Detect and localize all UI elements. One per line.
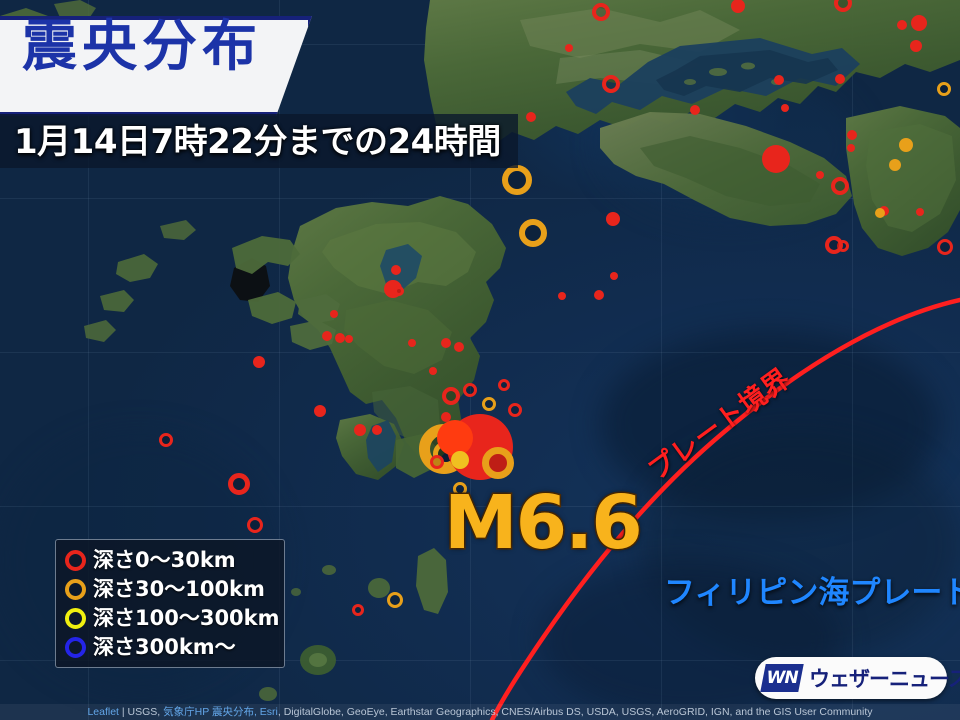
legend-item-label: 深さ0〜30km [93, 550, 236, 571]
depth-legend: 深さ0〜30km 深さ30〜100km 深さ100〜300km 深さ300km〜 [55, 539, 285, 668]
epicenter-marker[interactable] [889, 159, 901, 171]
logo-text: ウェザーニュース [809, 663, 960, 693]
epicenter-marker[interactable] [834, 0, 852, 12]
legend-item: 深さ300km〜 [65, 633, 284, 662]
epicenter-marker[interactable] [463, 383, 477, 397]
epicenter-marker[interactable] [690, 105, 700, 115]
epicenter-marker[interactable] [816, 171, 824, 179]
epicenter-marker[interactable] [335, 333, 345, 343]
epicenter-marker[interactable] [610, 272, 618, 280]
legend-depth-circle-icon [65, 579, 86, 600]
epicenter-marker[interactable] [330, 310, 338, 318]
epicenter-marker[interactable] [911, 15, 927, 31]
earthquake-map-screenshot: 震央分布 1月14日7時22分までの24時間 M6.6 プレート境界 フィリピン… [0, 0, 960, 720]
epicenter-marker[interactable] [314, 405, 326, 417]
epicenter-marker[interactable] [482, 397, 496, 411]
epicenter-marker[interactable] [372, 425, 382, 435]
epicenter-marker[interactable] [835, 74, 845, 84]
epicenter-marker[interactable] [847, 130, 857, 140]
epicenter-marker[interactable] [441, 338, 451, 348]
jma-link[interactable]: 気象庁HP 震央分布 [163, 706, 254, 718]
epicenter-marker[interactable] [602, 75, 620, 93]
legend-item-label: 深さ300km〜 [93, 637, 236, 658]
page-title: 震央分布 [22, 16, 302, 76]
epicenter-marker[interactable] [847, 144, 855, 152]
epicenter-marker[interactable] [937, 239, 953, 255]
attribution-sep: | USGS, [119, 706, 163, 718]
epicenter-marker[interactable] [910, 40, 922, 52]
epicenter-marker[interactable] [442, 387, 460, 405]
epicenter-marker[interactable] [498, 379, 510, 391]
epicenter-marker[interactable] [482, 447, 514, 479]
epicenter-marker[interactable] [253, 356, 265, 368]
epicenter-marker[interactable] [345, 335, 353, 343]
legend-item-label: 深さ30〜100km [93, 579, 265, 600]
subtitle-timerange: 1月14日7時22分までの24時間 [14, 120, 534, 164]
epicenter-marker[interactable] [875, 208, 885, 218]
epicenter-marker[interactable] [508, 403, 522, 417]
legend-item: 深さ30〜100km [65, 575, 284, 604]
epicenter-marker[interactable] [897, 20, 907, 30]
epicenter-marker[interactable] [937, 82, 951, 96]
epicenter-marker[interactable] [731, 0, 745, 13]
epicenter-marker[interactable] [408, 339, 416, 347]
epicenter-marker[interactable] [594, 290, 604, 300]
epicenter-marker[interactable] [774, 75, 784, 85]
epicenter-marker[interactable] [228, 473, 250, 495]
legend-depth-circle-icon [65, 550, 86, 571]
epicenter-marker[interactable] [762, 145, 790, 173]
epicenter-marker[interactable] [606, 212, 620, 226]
epicenter-marker[interactable] [394, 286, 404, 296]
attribution-rest: , DigitalGlobe, GeoEye, Earthstar Geogra… [278, 706, 873, 718]
epicenter-marker[interactable] [825, 236, 843, 254]
epicenter-marker[interactable] [437, 420, 473, 456]
epicenter-marker[interactable] [502, 165, 532, 195]
epicenter-marker[interactable] [430, 455, 444, 469]
epicenter-marker[interactable] [916, 208, 924, 216]
magnitude-label: M6.6 [444, 486, 641, 560]
epicenter-marker[interactable] [454, 342, 464, 352]
epicenter-marker[interactable] [352, 604, 364, 616]
esri-link[interactable]: , Esri [254, 706, 278, 718]
legend-depth-circle-icon [65, 637, 86, 658]
epicenter-marker[interactable] [322, 331, 332, 341]
epicenter-marker[interactable] [159, 433, 173, 447]
epicenter-marker[interactable] [247, 517, 263, 533]
legend-item-label: 深さ100〜300km [93, 608, 280, 629]
legend-depth-circle-icon [65, 608, 86, 629]
epicenter-marker[interactable] [592, 3, 610, 21]
epicenter-marker[interactable] [831, 177, 849, 195]
epicenter-marker[interactable] [354, 424, 366, 436]
epicenter-marker[interactable] [429, 367, 437, 375]
epicenter-marker[interactable] [565, 44, 573, 52]
map-attribution: Leaflet | USGS, 気象庁HP 震央分布, Esri, Digita… [0, 704, 960, 720]
epicenter-marker[interactable] [391, 265, 401, 275]
weathernews-logo[interactable]: WN ウェザーニュース [755, 657, 947, 699]
epicenter-marker[interactable] [387, 592, 403, 608]
epicenter-marker[interactable] [451, 451, 469, 469]
plate-name-label: フィリピン海プレート [664, 567, 960, 612]
epicenter-marker[interactable] [519, 219, 547, 247]
legend-item: 深さ100〜300km [65, 604, 284, 633]
epicenter-marker[interactable] [558, 292, 566, 300]
leaflet-link[interactable]: Leaflet [87, 706, 119, 718]
legend-item: 深さ0〜30km [65, 546, 284, 575]
wn-mark-icon: WN [760, 664, 803, 692]
epicenter-marker[interactable] [899, 138, 913, 152]
epicenter-marker[interactable] [781, 104, 789, 112]
